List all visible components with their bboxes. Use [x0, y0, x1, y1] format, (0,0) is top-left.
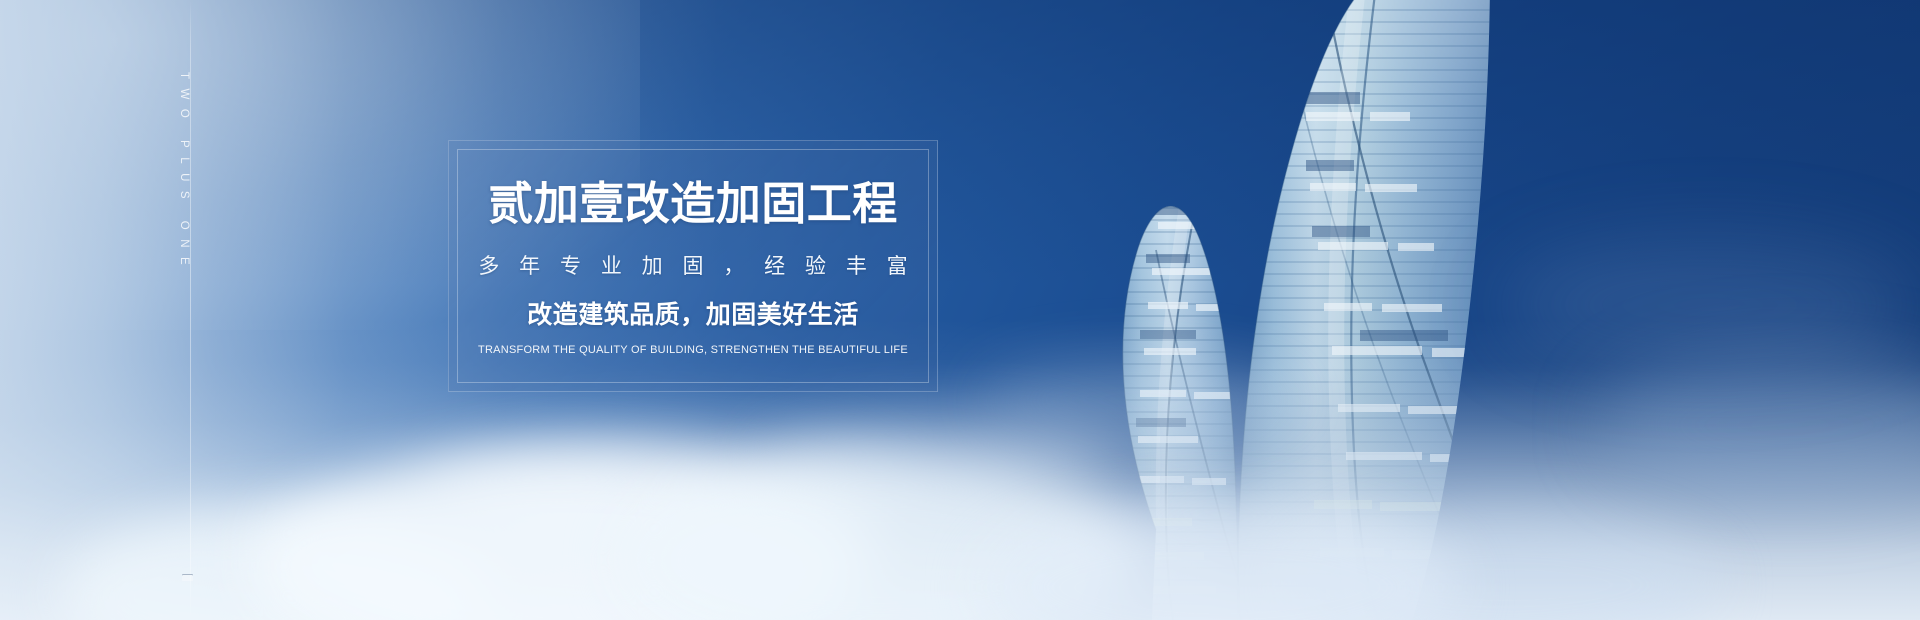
hero-text-panel: 贰加壹改造加固工程 多 年 专 业 加 固 ， 经 验 丰 富 改造建筑品质，加… — [448, 140, 938, 392]
cloud-puff — [1500, 240, 1920, 370]
corner-mark-icon — [182, 574, 193, 581]
hero-slogan: 改造建筑品质，加固美好生活 — [527, 303, 859, 328]
hero-english-tagline: TRANSFORM THE QUALITY OF BUILDING, STREN… — [478, 345, 908, 356]
hero-banner: TWO PLUS ONE 贰加壹改造加固工程 多 年 专 业 加 固 ， 经 验… — [0, 0, 1920, 620]
cloud-band — [0, 320, 1920, 620]
panel-content: 贰加壹改造加固工程 多 年 专 业 加 固 ， 经 验 丰 富 改造建筑品质，加… — [449, 141, 937, 391]
cloud-puff — [1600, 350, 1920, 500]
vertical-divider-line — [190, 0, 191, 620]
hero-subtitle: 多 年 专 业 加 固 ， 经 验 丰 富 — [471, 256, 914, 277]
hero-title: 贰加壹改造加固工程 — [488, 181, 898, 226]
side-brand-text: TWO PLUS ONE — [178, 72, 190, 274]
